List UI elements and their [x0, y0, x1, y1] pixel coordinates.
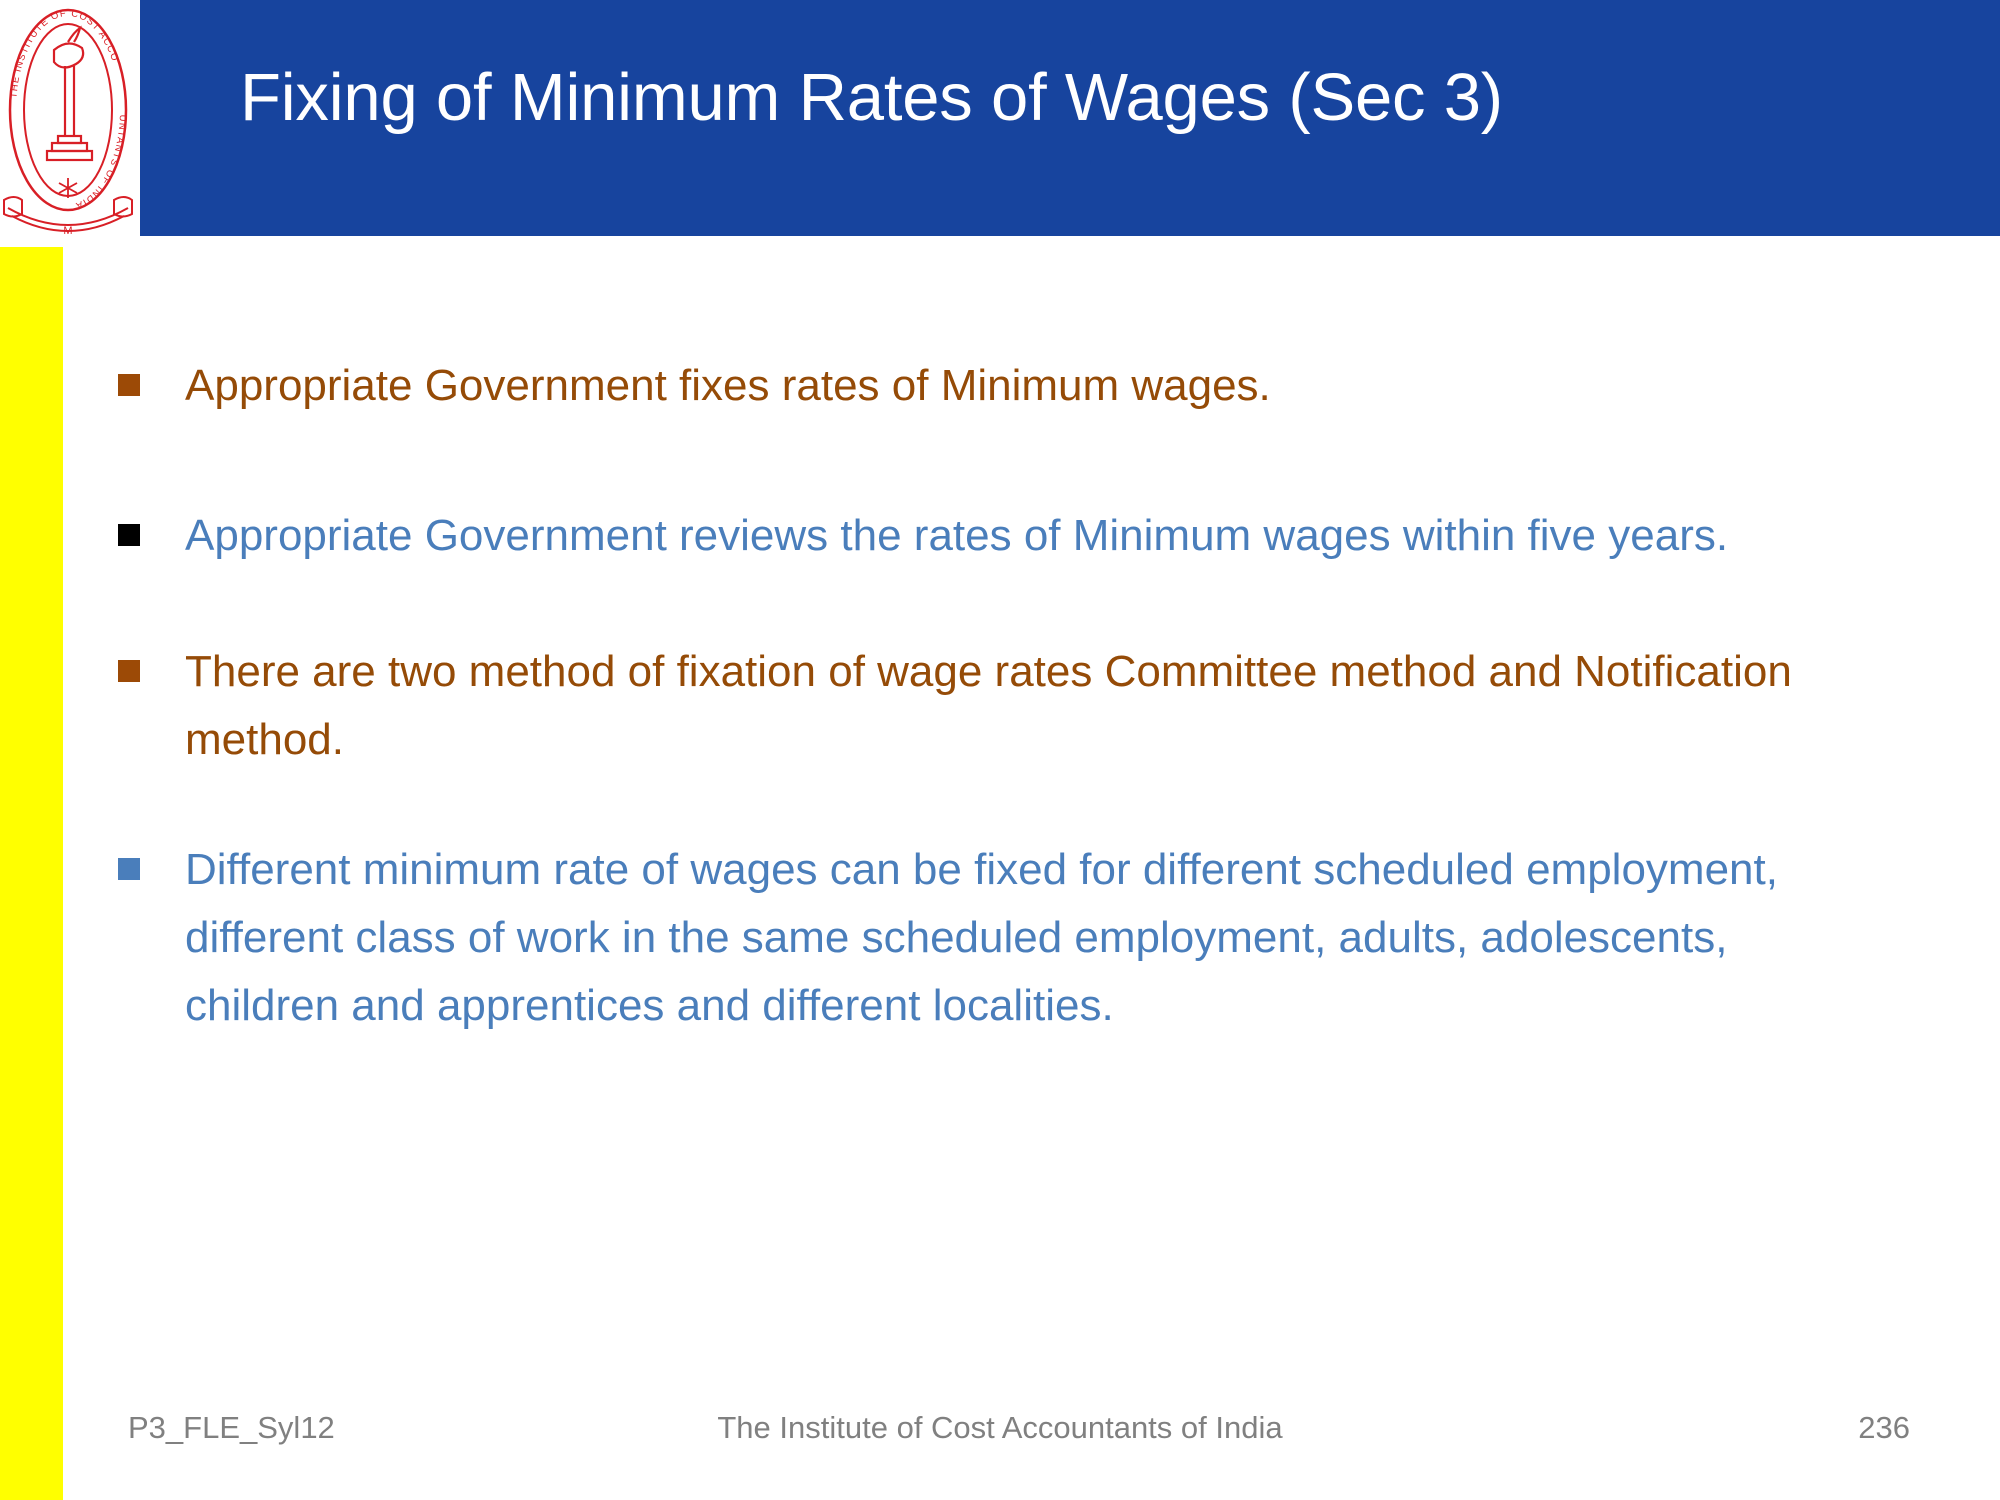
list-item: Appropriate Government reviews the rates… [118, 502, 1878, 570]
title-bar: Fixing of Minimum Rates of Wages (Sec 3) [140, 0, 2000, 236]
bullet-text: Appropriate Government fixes rates of Mi… [185, 352, 1878, 420]
list-item: Appropriate Government fixes rates of Mi… [118, 352, 1878, 420]
bullet-list: Appropriate Government fixes rates of Mi… [118, 352, 1878, 1082]
bullet-text: Appropriate Government reviews the rates… [185, 502, 1878, 570]
slide-root: Fixing of Minimum Rates of Wages (Sec 3)… [0, 0, 2000, 1500]
bullet-text: There are two method of fixation of wage… [185, 638, 1878, 774]
footer-page-number: 236 [1858, 1408, 1910, 1448]
bullet-text: Different minimum rate of wages can be f… [185, 836, 1878, 1040]
bullet-square-icon [118, 660, 140, 682]
institute-logo: THE INSTITUTE OF COST ACCO UNTANTS OF IN… [2, 2, 134, 245]
footer-institute-name: The Institute of Cost Accountants of Ind… [0, 1408, 2000, 1448]
slide-footer: P3_FLE_Syl12 The Institute of Cost Accou… [0, 1408, 2000, 1468]
list-item: There are two method of fixation of wage… [118, 638, 1878, 774]
list-item: Different minimum rate of wages can be f… [118, 836, 1878, 1040]
bullet-square-icon [118, 374, 140, 396]
bullet-square-icon [118, 858, 140, 880]
page-title: Fixing of Minimum Rates of Wages (Sec 3) [240, 56, 1940, 140]
svg-text:M: M [63, 225, 72, 237]
left-accent-stripe [0, 247, 63, 1500]
institute-logo-icon: THE INSTITUTE OF COST ACCO UNTANTS OF IN… [2, 2, 134, 245]
bullet-square-icon [118, 524, 140, 546]
